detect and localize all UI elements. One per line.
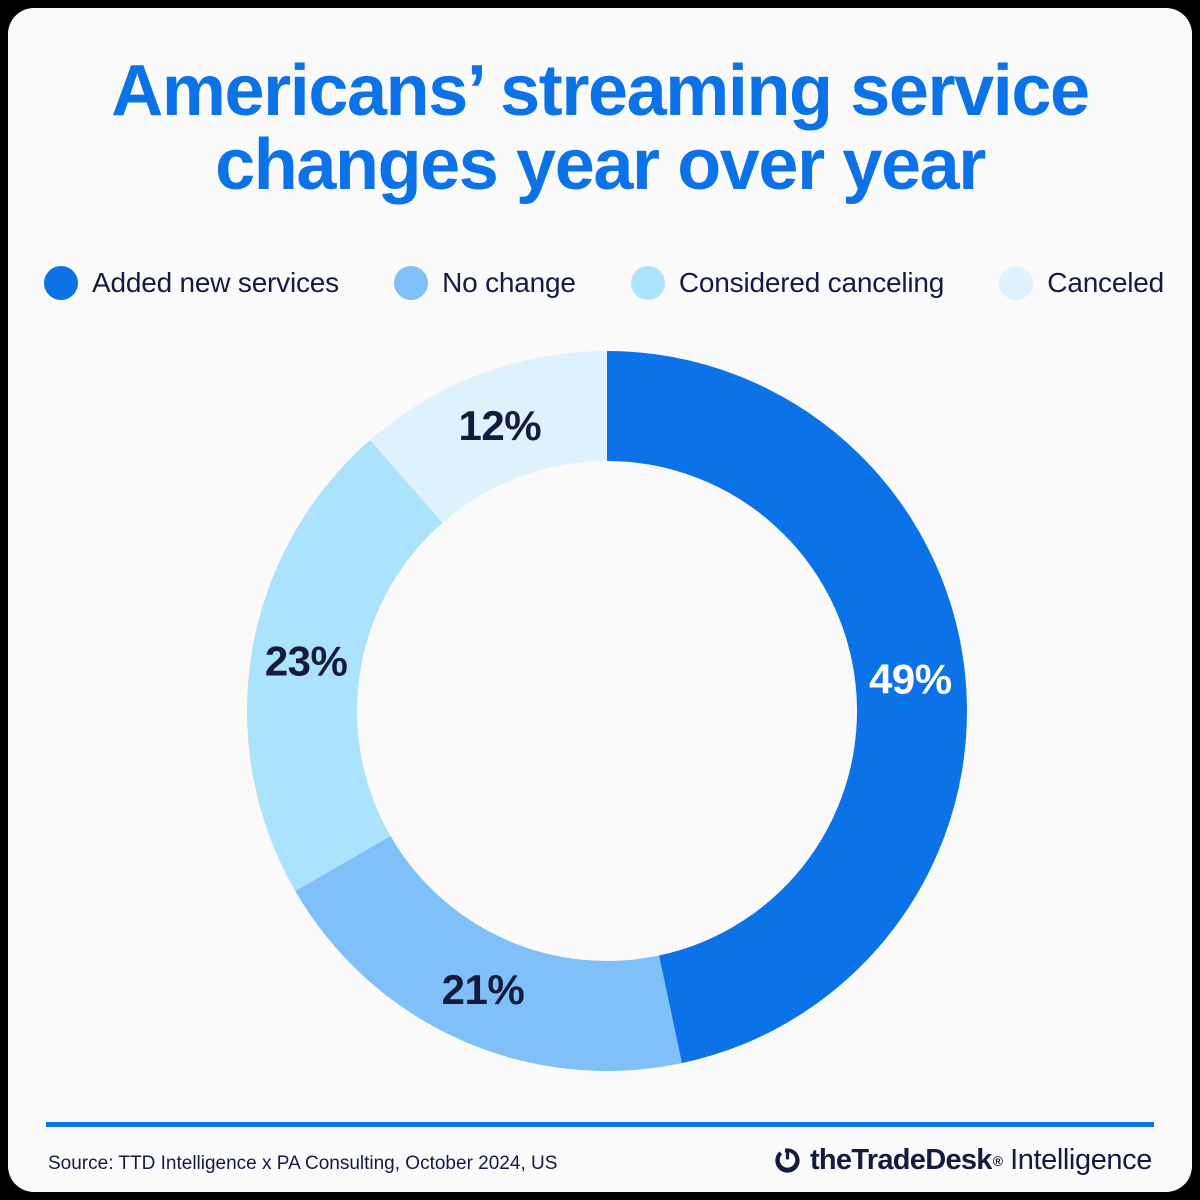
legend-item-considered-canceling[interactable]: Considered canceling: [631, 266, 944, 300]
legend-item-added-new-services[interactable]: Added new services: [44, 266, 339, 300]
legend-swatch-icon: [44, 266, 78, 300]
legend-item-canceled[interactable]: Canceled: [999, 266, 1164, 300]
logo-product-text: Intelligence: [1010, 1144, 1152, 1177]
donut-slice-label: 23%: [265, 638, 348, 685]
legend-item-label: Considered canceling: [679, 267, 944, 299]
donut-chart-svg: 49%21%23%12%: [247, 351, 967, 1071]
legend-swatch-icon: [999, 266, 1033, 300]
donut-slice[interactable]: [295, 836, 682, 1071]
logo-brand-text: theTradeDesk: [810, 1144, 992, 1177]
brand-logo: theTradeDesk ® Intelligence: [774, 1144, 1152, 1177]
donut-slice-group: [247, 351, 967, 1071]
page-title: Americans’ streaming service changes yea…: [48, 54, 1152, 202]
donut-slice-label: 49%: [869, 656, 952, 703]
footer-divider: [46, 1122, 1154, 1127]
donut-slice[interactable]: [607, 351, 967, 1063]
infographic-card: Americans’ streaming service changes yea…: [8, 8, 1192, 1192]
legend-item-label: No change: [442, 267, 576, 299]
legend-item-label: Canceled: [1047, 267, 1164, 299]
legend-item-no-change[interactable]: No change: [394, 266, 576, 300]
donut-slice-label: 12%: [459, 402, 542, 449]
legend-swatch-icon: [394, 266, 428, 300]
legend-item-label: Added new services: [92, 267, 339, 299]
legend-swatch-icon: [631, 266, 665, 300]
source-note: Source: TTD Intelligence x PA Consulting…: [48, 1153, 557, 1175]
power-circle-icon: [774, 1147, 801, 1174]
logo-registered-mark: ®: [993, 1153, 1003, 1169]
donut-chart: 49%21%23%12%: [247, 351, 967, 1071]
chart-legend: Added new services No change Considered …: [44, 266, 1164, 300]
donut-slice-label: 21%: [442, 966, 525, 1013]
